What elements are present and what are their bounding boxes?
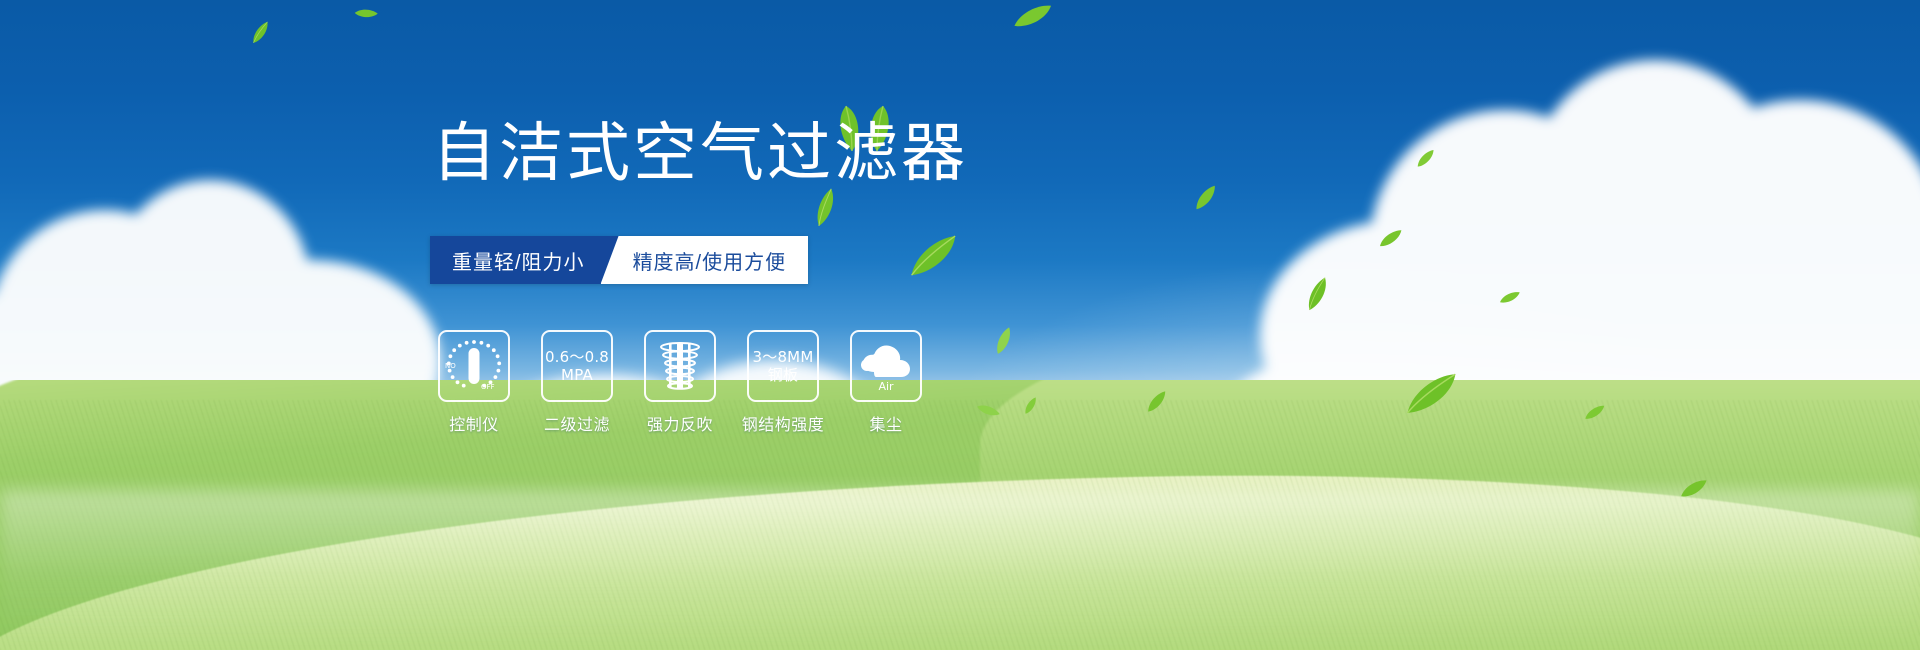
- steel-plate-text-icon: 3～8MM 钢板: [747, 330, 819, 402]
- feature-item-dust[interactable]: Air 集尘: [850, 330, 922, 435]
- feature-item-pressure[interactable]: 0.6～0.8 MPA 二级过滤: [541, 330, 613, 435]
- badge-precision-convenience: 精度高/使用方便: [601, 236, 809, 284]
- feature-item-controller[interactable]: NO OFF 控制仪: [438, 330, 510, 435]
- svg-text:NO: NO: [445, 362, 456, 370]
- feature-label-controller: 控制仪: [449, 411, 499, 435]
- feature-item-steel[interactable]: 3～8MM 钢板 钢结构强度: [747, 330, 819, 435]
- banner-content: 自洁式空气过滤器 重量轻/阻力小 精度高/使用方便: [0, 0, 1920, 650]
- steel-material-value: 钢板: [753, 366, 814, 384]
- svg-text:Air: Air: [878, 380, 894, 393]
- hero-banner: 自洁式空气过滤器 重量轻/阻力小 精度高/使用方便: [0, 0, 1920, 650]
- steel-thickness-value: 3～8MM: [753, 348, 814, 366]
- page-title: 自洁式空气过滤器: [432, 122, 968, 186]
- pressure-unit-value: MPA: [545, 366, 609, 384]
- feature-item-backblow[interactable]: 强力反吹: [644, 330, 716, 435]
- pressure-text-icon: 0.6～0.8 MPA: [541, 330, 613, 402]
- filter-cartridge-icon: [644, 330, 716, 402]
- feature-label-pressure: 二级过滤: [544, 411, 610, 435]
- gauge-dial-icon: NO OFF: [438, 330, 510, 402]
- tagline-badges: 重量轻/阻力小 精度高/使用方便: [430, 236, 808, 284]
- feature-label-dust: 集尘: [869, 411, 902, 435]
- svg-text:OFF: OFF: [481, 383, 495, 391]
- feature-list: NO OFF 控制仪 0.6～0.8 MPA 二级过滤: [438, 330, 922, 435]
- badge-weight-resistance: 重量轻/阻力小: [430, 236, 619, 284]
- pressure-range-value: 0.6～0.8: [545, 348, 609, 366]
- air-cloud-icon: Air: [850, 330, 922, 402]
- feature-label-backblow: 强力反吹: [647, 411, 713, 435]
- feature-label-steel: 钢结构强度: [742, 411, 825, 435]
